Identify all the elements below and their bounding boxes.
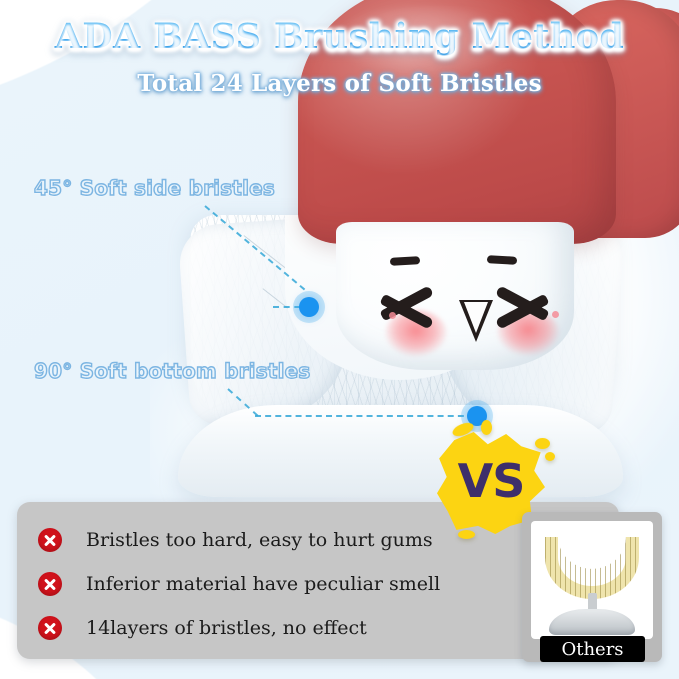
x-cross-icon <box>38 528 62 552</box>
con-text: 14layers of bristles, no effect <box>86 617 367 639</box>
x-cross-icon <box>38 572 62 596</box>
mouth-inner <box>464 302 488 333</box>
con-text: Bristles too hard, easy to hurt gums <box>86 529 433 551</box>
con-text: Inferior material have peculiar smell <box>86 573 440 595</box>
vs-splash-drop <box>545 452 555 461</box>
sparkle-heart-icon <box>389 312 396 319</box>
others-label-text: Others <box>561 639 623 660</box>
infographic-canvas: ADA BASS Brushing Method Total 24 Layers… <box>0 0 679 679</box>
list-item: 14layers of bristles, no effect <box>38 606 508 650</box>
competitor-brush-base <box>549 609 635 635</box>
eye-right-closed <box>489 287 547 337</box>
bristle-u-rim <box>178 405 623 497</box>
sparkle-heart-icon <box>552 311 559 318</box>
callout-dot-side-bristles <box>299 297 319 317</box>
leader-line-bottom-horizontal <box>255 415 474 417</box>
list-item: Inferior material have peculiar smell <box>38 562 508 606</box>
page-title: ADA BASS Brushing Method <box>0 16 679 57</box>
callout-label-side-bristles: 45° Soft side bristles <box>34 176 275 200</box>
others-product-image <box>531 521 653 639</box>
eyebrow-left <box>390 256 420 266</box>
competitor-brush-texture <box>545 537 639 599</box>
x-cross-icon <box>38 616 62 640</box>
callout-label-bottom-bristles: 90° Soft bottom bristles <box>34 359 311 383</box>
others-label-tag: Others <box>540 636 645 662</box>
cons-list: Bristles too hard, easy to hurt gums Inf… <box>38 518 508 650</box>
page-subtitle: Total 24 Layers of Soft Bristles <box>0 70 679 97</box>
eyebrow-right <box>487 255 517 265</box>
